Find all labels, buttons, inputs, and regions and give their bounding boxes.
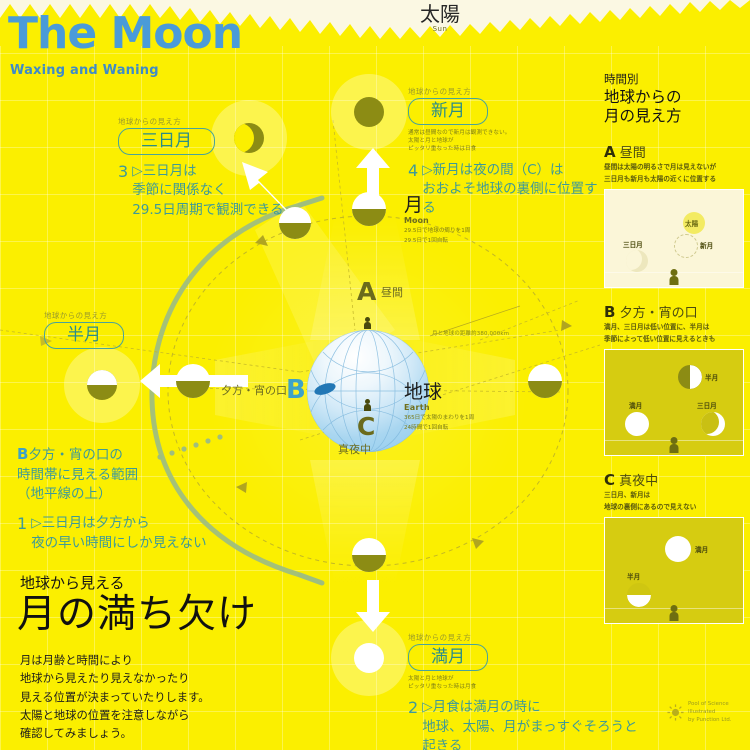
sidebar-section-b: B 夕方・宵の口 満月、三日月は低い位置に、半月は 季節によって低い位置に見える… (604, 302, 744, 456)
credit-line-3: by Punction Ltd. (688, 716, 732, 724)
footer-body-line-3: 見える位置が決まっていたりします。 (20, 689, 210, 707)
footer-body-line-5: 確認してみましょう。 (20, 725, 210, 743)
crescent-kicker: 地球からの見え方 (118, 116, 318, 127)
new-moon-step-line-2: おおよそ地球の裏側に位置する (422, 181, 598, 216)
footer-body-line-1: 月は月齢と時間により (20, 652, 210, 670)
half-moon-name: 半月 (44, 322, 124, 349)
observer-a (364, 317, 371, 329)
marker-c-letter: C (357, 412, 375, 441)
orbit-moon-top (352, 192, 386, 226)
crescent-step-line-2: 季節に関係なく (132, 182, 227, 198)
credit-line-2: Illustrated (688, 708, 732, 716)
new-moon-step-number: 4 (408, 161, 418, 180)
section-a-note-2: 三日月も新月も太陽の近くに位置する (604, 175, 744, 185)
scene-b-half-moon-label: 半月 (705, 372, 718, 382)
new-moon-name: 新月 (408, 98, 488, 125)
scene-b-crescent-label: 三日月 (697, 400, 717, 410)
new-moon-note-1: 通常は昼間なので新月は観測できない。 (408, 129, 608, 137)
orbit-moon-left (176, 364, 210, 398)
half-moon-step-number: 1 (17, 514, 27, 533)
credit-block: Pool of Science Illustrated by Punction … (667, 700, 732, 724)
section-c-scene: 満月 半月 (604, 517, 744, 624)
sidebar-title-line-1: 地球からの (604, 88, 744, 107)
moon-earth-distance-note: 月と地球の距離約380,000km (432, 329, 509, 337)
b-range-letter: B (17, 445, 28, 463)
scene-c-half-moon-icon (627, 583, 651, 607)
credit-text: Pool of Science Illustrated by Punction … (688, 700, 732, 724)
full-moon-disc (354, 643, 384, 673)
scene-b-full-moon-label: 満月 (629, 400, 642, 410)
full-moon-step-line-2: 地球、太陽、月がまっすぐそろうと起きる (422, 719, 637, 750)
crescent-block: 地球からの見え方 三日月 3 ▷三日月は 季節に関係なく 29.5日周期で観測で… (118, 116, 318, 220)
full-moon-step-line-1: ▷月食は満月の時に (422, 699, 540, 715)
full-moon-note-2: ピッタリ重なった時は月食 (408, 683, 638, 691)
footer-body: 月は月齢と時間により 地球から見えたり見えなかったり 見える位置が決まっていたり… (20, 652, 210, 743)
earth-note-2: 24時間で1回自転 (404, 424, 474, 432)
earth-label-jp: 地球 (404, 383, 474, 402)
half-moon-kicker: 地球からの見え方 (44, 310, 224, 321)
scene-a-new-moon-icon (674, 234, 698, 258)
scene-a-crescent-label: 三日月 (623, 239, 643, 249)
marker-c-label: 真夜中 (338, 441, 371, 457)
footer-title: 月の満ち欠け (17, 594, 257, 637)
sidebar-section-c: C 真夜中 三日月、新月は 地球の裏側にあるので見えない 満月 半月 (604, 470, 744, 624)
marker-b-label: 夕方・宵の口 (221, 382, 287, 398)
marker-a-label: 昼間 (381, 284, 403, 300)
footer-body-line-4: 太陽と地球の位置を注意しながら (20, 707, 210, 725)
new-moon-step-line-1: ▷新月は夜の間（C）は (422, 162, 563, 178)
new-moon-kicker: 地球からの見え方 (408, 86, 608, 97)
infographic-canvas: The Moon Waxing and Waning 太陽 Sun (0, 0, 750, 750)
section-c-letter: C (604, 471, 615, 489)
half-moon-block: 地球からの見え方 半月 (44, 310, 224, 349)
sun-burst-logo-icon (667, 704, 684, 721)
new-moon-step-text: ▷新月は夜の間（C）は おおよそ地球の裏側に位置する (422, 161, 608, 218)
orbit-moon-bottom (352, 538, 386, 572)
new-moon-disc (354, 97, 384, 127)
half-moon-step-text: ▷三日月は夕方から 夜の早い時間にしか見えない (31, 514, 207, 552)
crescent-step-number: 3 (118, 162, 128, 181)
full-moon-block: 地球からの見え方 満月 太陽と月と地球が ピッタリ重なった時は月食 2 ▷月食は… (408, 632, 638, 750)
section-b-heading: 夕方・宵の口 (620, 306, 698, 321)
half-moon-step-line-1: ▷三日月は夕方から (31, 515, 149, 531)
section-a-head: A 昼間 (604, 142, 744, 161)
section-c-note-2: 地球の裏側にあるので見えない (604, 503, 744, 513)
sidebar: 時間別 地球からの 月の見え方 A 昼間 昼間は太陽の明るさで月は見えないが 三… (604, 72, 744, 624)
section-b-scene: 半月 満月 三日月 (604, 349, 744, 456)
earth-label-en: Earth (404, 403, 474, 412)
footer-kicker: 地球から見える (20, 572, 125, 593)
sidebar-section-a: A 昼間 昼間は太陽の明るさで月は見えないが 三日月も新月も太陽の近くに位置する… (604, 142, 744, 288)
orbit-moon-right (528, 364, 562, 398)
half-moon-step-line-2: 夜の早い時間にしか見えない (31, 535, 207, 551)
scene-b-half-moon-icon (678, 365, 702, 389)
full-moon-step-text: ▷月食は満月の時に 地球、太陽、月がまっすぐそろうと起きる (422, 698, 638, 750)
section-b-note-2: 季節によって低い位置に見えるときも (604, 335, 744, 345)
section-a-letter: A (604, 143, 616, 161)
b-range-line-1: 夕方・宵の口の (28, 447, 123, 463)
crescent-step-line-3: 29.5日周期で観測できる (132, 202, 283, 218)
full-moon-kicker: 地球からの見え方 (408, 632, 638, 643)
b-range-line-3: （地平線の上） (17, 486, 112, 502)
section-b-letter: B (604, 303, 615, 321)
scene-a-new-moon-label: 新月 (700, 240, 713, 250)
scene-a-sun-label: 太陽 (685, 218, 698, 228)
section-a-heading: 昼間 (620, 146, 646, 161)
new-moon-block: 地球からの見え方 新月 通常は昼間なので新月は観測できない。 太陽と月と地球が … (408, 86, 608, 218)
moon-note-1: 29.5日で地球の周りを1周 (404, 227, 470, 235)
new-moon-note-3: ピッタリ重なった時は日食 (408, 145, 608, 153)
new-moon-note-2: 太陽と月と地球が (408, 137, 608, 145)
sidebar-title-line-2: 月の見え方 (604, 107, 744, 126)
full-moon-step-number: 2 (408, 698, 418, 717)
scene-c-half-moon-label: 半月 (627, 571, 640, 581)
section-b-head: B 夕方・宵の口 (604, 302, 744, 321)
credit-line-1: Pool of Science (688, 700, 732, 708)
scene-b-full-moon-icon (625, 412, 649, 436)
sidebar-kicker: 時間別 (604, 72, 744, 88)
half-moon-range-block: B夕方・宵の口の 時間帯に見える範囲 （地平線の上） 1 ▷三日月は夕方から 夜… (17, 444, 247, 553)
footer-body-line-2: 地球から見えたり見えなかったり (20, 670, 210, 688)
crescent-name: 三日月 (118, 128, 215, 155)
section-c-note-1: 三日月、新月は (604, 491, 744, 501)
full-moon-note-1: 太陽と月と地球が (408, 675, 638, 683)
full-moon-name: 満月 (408, 644, 488, 671)
crescent-step-text: ▷三日月は 季節に関係なく 29.5日周期で観測できる (132, 162, 283, 219)
marker-b-letter: B (286, 375, 306, 405)
section-a-scene: 太陽 新月 三日月 (604, 189, 744, 288)
scene-b-crescent-icon (701, 412, 725, 436)
half-moon-disc (87, 370, 117, 400)
scene-c-full-moon-label: 満月 (695, 544, 708, 554)
observer-c (364, 399, 371, 411)
section-b-note-1: 満月、三日月は低い位置に、半月は (604, 323, 744, 333)
earth-label: 地球 Earth 365日で太陽のまわりを1周 24時間で1回自転 (404, 383, 474, 433)
scene-a-crescent-icon (626, 250, 648, 272)
marker-a-letter: A (357, 277, 376, 306)
b-range-line-2: 時間帯に見える範囲 (17, 467, 138, 483)
section-a-note-1: 昼間は太陽の明るさで月は見えないが (604, 163, 744, 173)
scene-c-full-moon-icon (665, 536, 691, 562)
crescent-step-line-1: ▷三日月は (132, 163, 196, 179)
section-c-heading: 真夜中 (619, 474, 658, 489)
earth-note-1: 365日で太陽のまわりを1周 (404, 414, 474, 422)
section-c-head: C 真夜中 (604, 470, 744, 489)
moon-note-2: 29.5日で1回自転 (404, 237, 470, 245)
